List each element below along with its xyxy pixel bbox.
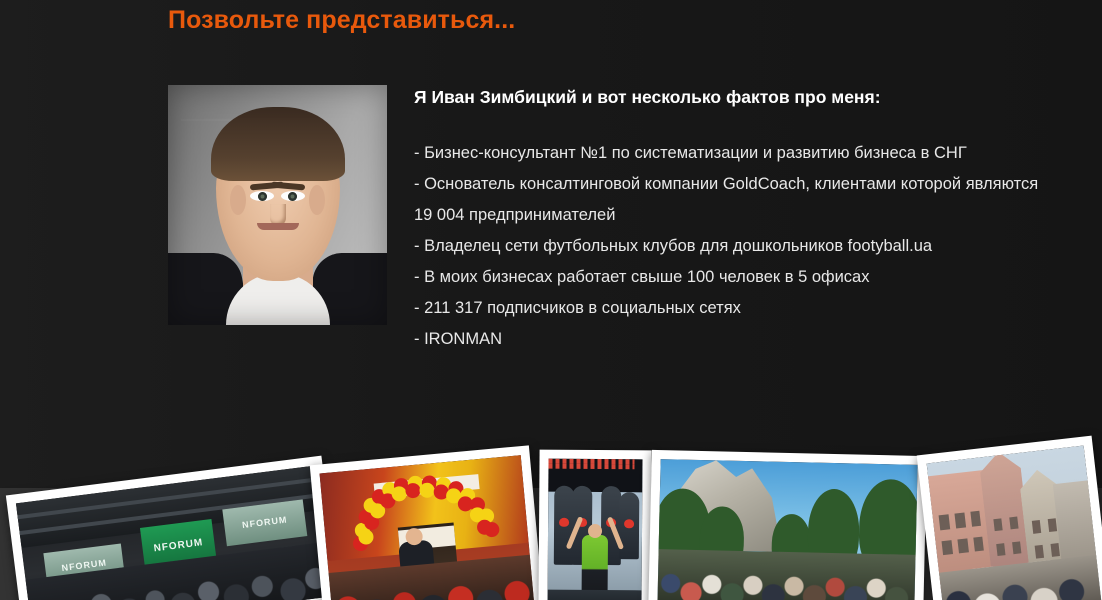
fact-item-3: - Владелец сети футбольных клубов для до… (414, 231, 1044, 262)
ironman-flag-4 (619, 493, 639, 560)
page-title: Позвольте представиться... (168, 6, 515, 35)
gallery-photo-opening[interactable] (310, 445, 545, 600)
photo-inner (927, 446, 1102, 600)
gallery-photo-oldtown[interactable] (917, 436, 1102, 600)
photo-gallery: NFORUM NFORUM NFORUM (0, 420, 1102, 600)
page-root: Позвольте представиться... Я Иван Зимбиц… (0, 0, 1102, 600)
gallery-photo-ironman[interactable] (538, 450, 651, 600)
finish-barrier (547, 589, 641, 600)
fact-item-5: - 211 317 подписчиков в социальных сетях (414, 293, 1044, 324)
ironman-flag-1 (553, 486, 574, 565)
photo-inner (547, 459, 642, 600)
about-lead: Я Иван Зимбицкий и вот несколько фактов … (414, 86, 1044, 108)
gallery-photo-group[interactable] (648, 450, 927, 600)
about-text-column: Я Иван Зимбицкий и вот несколько фактов … (414, 86, 1044, 355)
fact-item-6: - IRONMAN (414, 324, 1044, 355)
gallery-photo-conference[interactable]: NFORUM NFORUM NFORUM (6, 456, 340, 600)
fact-item-2: - Основатель консалтинговой компании Gol… (414, 169, 1044, 231)
photo-inner (320, 455, 535, 600)
portrait-photo (168, 85, 387, 325)
fact-item-1: - Бизнес-консультант №1 по систематизаци… (414, 138, 1044, 169)
group-people (657, 549, 915, 600)
photo-inner (657, 459, 917, 600)
portrait-vignette (168, 85, 387, 325)
fact-item-4: - В моих бизнесах работает свыше 100 чел… (414, 262, 1044, 293)
photo-inner: NFORUM NFORUM NFORUM (16, 466, 330, 600)
